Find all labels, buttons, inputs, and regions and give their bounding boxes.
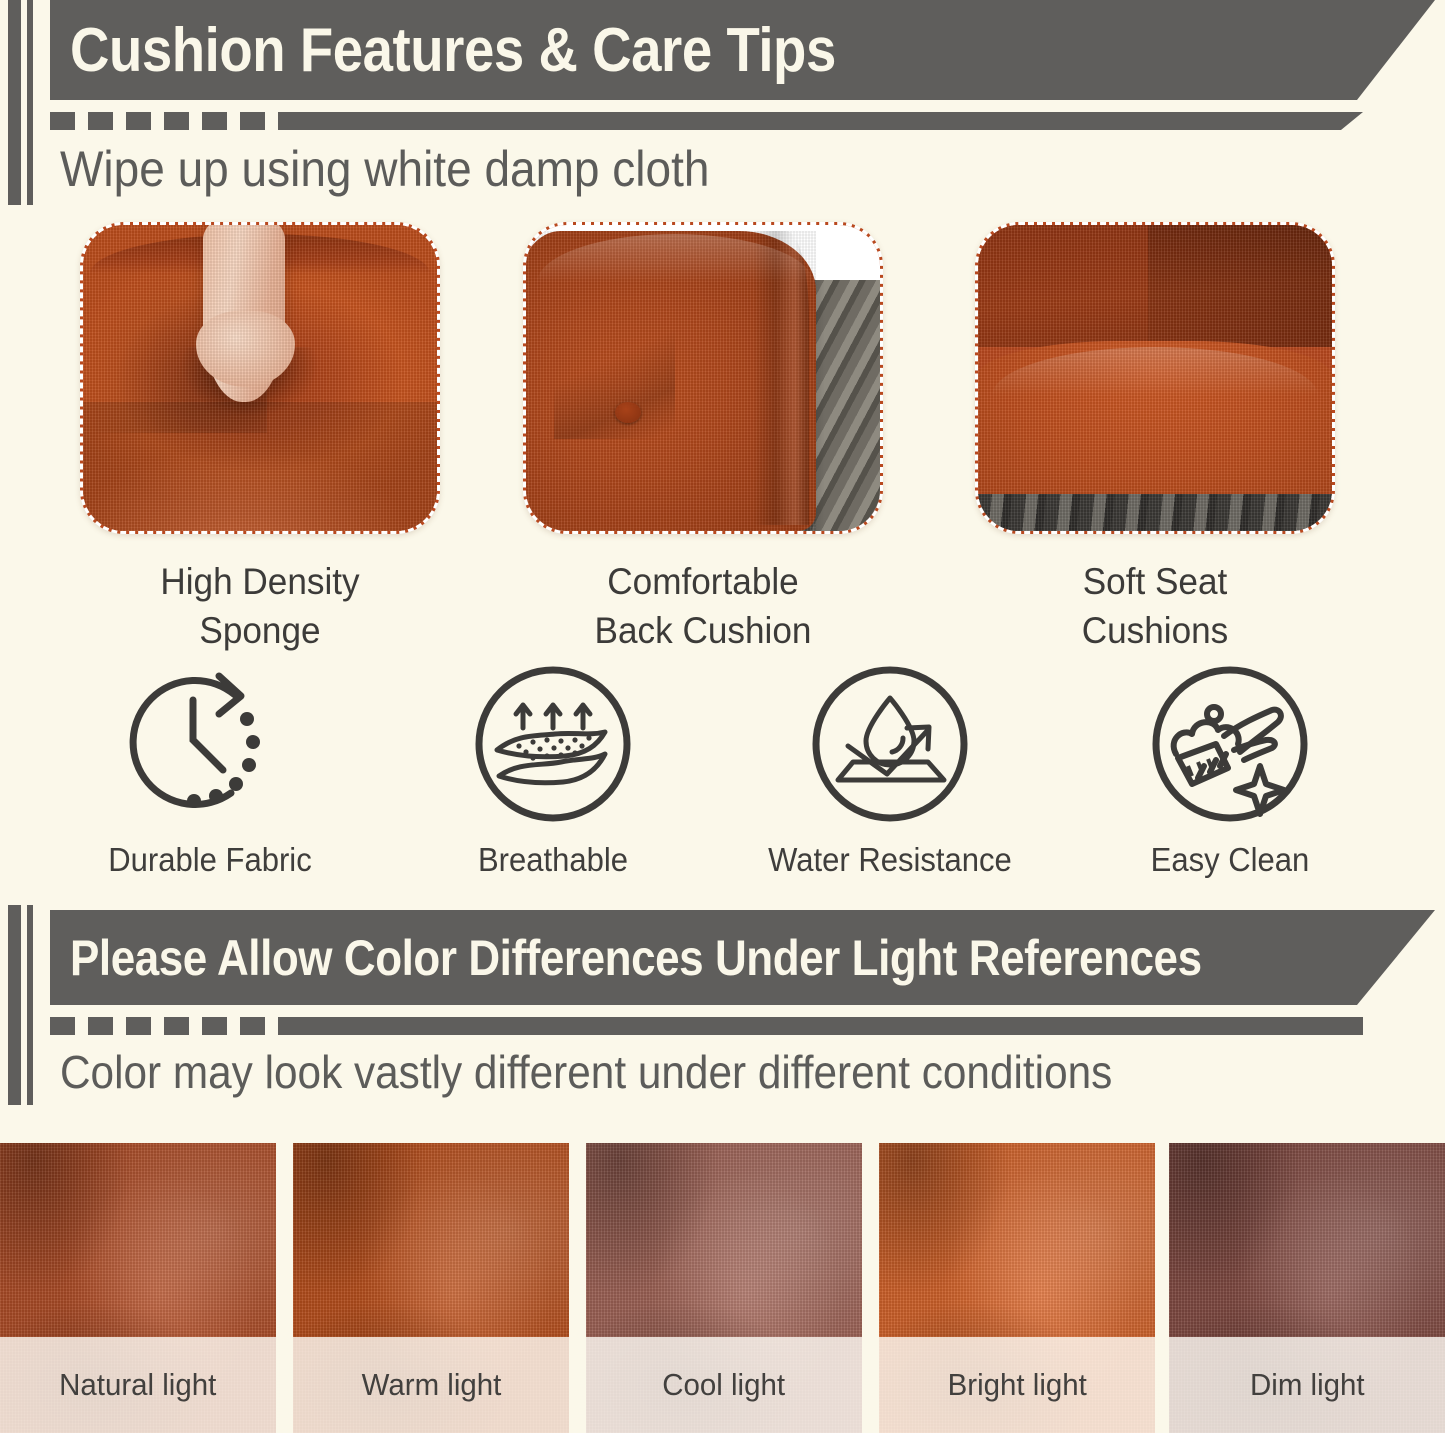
color-swatch-row: Natural light Warm light Cool light [0, 1143, 1445, 1433]
feature-card-row [0, 222, 1445, 552]
swatch-label: Natural light [59, 1367, 216, 1403]
divider-bar [278, 1017, 1363, 1035]
caption-comfortable-back-cushion: Comfortable Back Cushion [504, 558, 903, 656]
section-two-subtitle: Color may look vastly different under di… [60, 1045, 1112, 1099]
section-one-dash-divider [50, 112, 1435, 130]
swatch-label-overlay: Cool light [586, 1337, 862, 1433]
hand-scrub-brush-sparkle-icon [1095, 662, 1365, 827]
swatch-label: Cool light [663, 1367, 786, 1403]
water-droplet-repel-icon [755, 662, 1025, 827]
tufted-button [615, 402, 641, 423]
divider-dash [126, 1017, 151, 1035]
feature-label: Easy Clean [1103, 841, 1357, 879]
section-two-title: Please Allow Color Differences Under Lig… [70, 929, 1202, 987]
caption-line-2: Sponge [61, 607, 460, 656]
divider-dash [164, 1017, 189, 1035]
feature-water-resistance: Water Resistance [755, 662, 1025, 879]
section-one-header: Cushion Features & Care Tips Wipe up usi… [0, 0, 1445, 210]
caption-line-1: Soft Seat [956, 558, 1355, 607]
back-cushion-wicker-photo [526, 225, 880, 531]
header-accent-bar-thick [8, 905, 21, 1105]
section-two-banner: Please Allow Color Differences Under Lig… [50, 910, 1435, 1005]
caption-soft-seat-cushions: Soft Seat Cushions [956, 558, 1355, 656]
caption-line-1: High Density [61, 558, 460, 607]
feature-durable-fabric: Durable Fabric [75, 662, 345, 879]
section-one-banner: Cushion Features & Care Tips [50, 0, 1435, 100]
header-accent-bar-thick [8, 0, 21, 205]
caption-line-1: Comfortable [504, 558, 903, 607]
divider-dash [202, 112, 227, 130]
divider-dash [164, 112, 189, 130]
swatch-natural-light: Natural light [0, 1143, 276, 1433]
caption-line-2: Cushions [956, 607, 1355, 656]
swatch-cool-light: Cool light [586, 1143, 862, 1433]
swatch-dim-light: Dim light [1169, 1143, 1445, 1433]
swatch-label-overlay: Dim light [1169, 1337, 1445, 1433]
card-soft-seat-cushions [975, 222, 1335, 534]
feature-label: Breathable [426, 841, 680, 879]
feature-breathable: Breathable [418, 662, 688, 879]
swatch-warm-light: Warm light [293, 1143, 569, 1433]
divider-dash [50, 1017, 75, 1035]
divider-dash [240, 112, 265, 130]
caption-line-2: Back Cushion [504, 607, 903, 656]
infographic-page: Cushion Features & Care Tips Wipe up usi… [0, 0, 1445, 1433]
divider-dash [202, 1017, 227, 1035]
divider-dash [88, 112, 113, 130]
seat-cushion-photo [978, 225, 1332, 531]
header-accent-bar-thin [27, 905, 33, 1105]
swatch-label: Dim light [1250, 1367, 1365, 1403]
swatch-label-overlay: Warm light [293, 1337, 569, 1433]
section-one-subtitle: Wipe up using white damp cloth [60, 140, 709, 198]
swatch-bright-light: Bright light [879, 1143, 1155, 1433]
caption-high-density-sponge: High Density Sponge [61, 558, 460, 656]
card-comfortable-back-cushion [523, 222, 883, 534]
divider-dash [88, 1017, 113, 1035]
clock-arrow-dots-icon [75, 662, 345, 827]
divider-dash [50, 112, 75, 130]
card-high-density-sponge [80, 222, 440, 534]
header-accent-bar-thin [27, 0, 33, 205]
feature-label: Water Resistance [763, 841, 1017, 879]
fabric-airflow-arrows-icon [418, 662, 688, 827]
section-two-dash-divider [50, 1017, 1435, 1035]
swatch-label-overlay: Natural light [0, 1337, 276, 1433]
divider-dash [240, 1017, 265, 1035]
feature-icon-row: Durable Fabric [0, 662, 1445, 892]
feature-easy-clean: Easy Clean [1095, 662, 1365, 879]
divider-dash [126, 112, 151, 130]
swatch-label-overlay: Bright light [879, 1337, 1155, 1433]
section-two-header: Please Allow Color Differences Under Lig… [0, 905, 1445, 1110]
divider-bar [278, 112, 1363, 130]
cushion-hand-press-photo [83, 225, 437, 531]
swatch-label: Bright light [947, 1367, 1086, 1403]
swatch-label: Warm light [361, 1367, 501, 1403]
section-one-title: Cushion Features & Care Tips [70, 15, 836, 86]
feature-label: Durable Fabric [83, 841, 337, 879]
